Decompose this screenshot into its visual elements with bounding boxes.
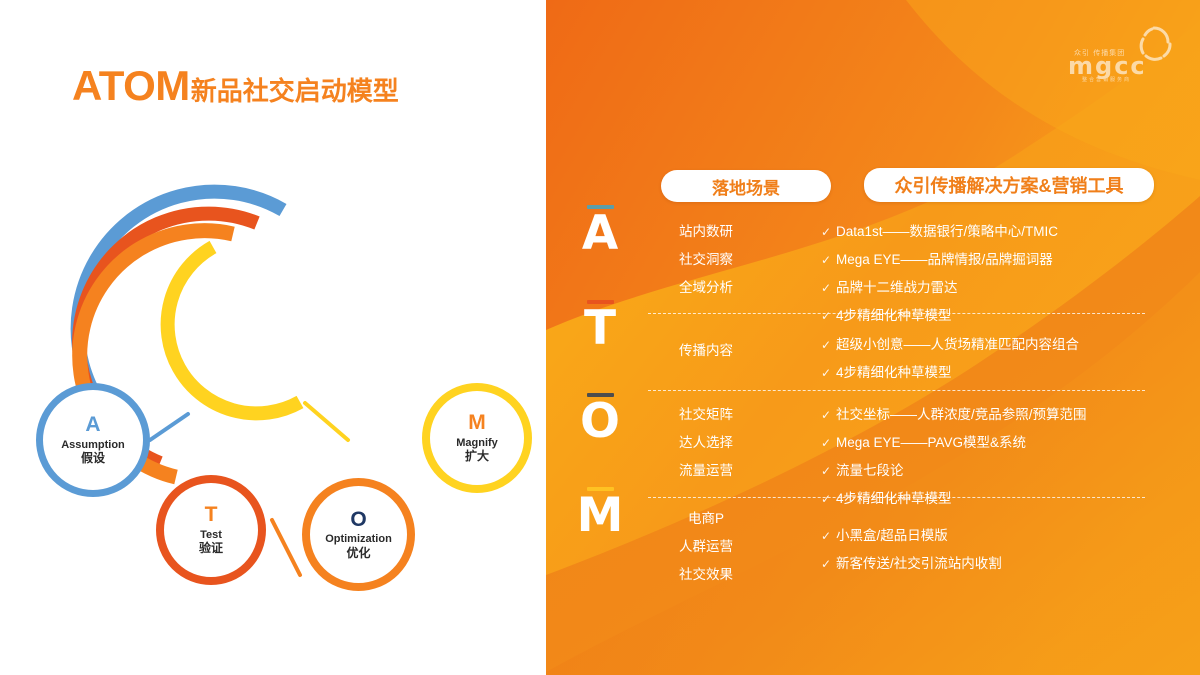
logo-wordmark: mgcc [1068,52,1147,80]
tool-label: 社交坐标——人群浓度/竞品参照/预算范围 [836,407,1087,422]
tool-label: 小黑盒/超品日模版 [836,528,948,543]
tool-item: ✓Mega EYE——PAVG模型&系统 [821,429,1200,457]
section-a-scenes: 站内数研 社交洞察 全域分析 [646,218,766,302]
section-t-tools: ✓超级小创意——人货场精准匹配内容组合 ✓4步精细化种草模型 [821,331,1200,387]
node-label-cn: 扩大 [465,449,489,463]
node-assumption[interactable]: A Assumption 假设 [36,383,150,497]
node-optimization[interactable]: O Optimization 优化 [302,478,415,591]
slide-root: ATOM新品社交启动模型 A Assumption 假设 [0,0,1200,675]
atom-letter-o: O [574,393,626,445]
node-letter: A [85,414,100,436]
tool-item: ✓社交坐标——人群浓度/竞品参照/预算范围 [821,401,1200,429]
tool-label: 4步精细化种草模型 [836,491,952,506]
node-label-en: Assumption [61,439,125,452]
page-title: ATOM新品社交启动模型 [72,62,399,110]
section-o-scenes: 社交矩阵 达人选择 流量运营 [646,401,766,485]
section-divider-1 [648,313,1145,314]
right-panel: 众引 传播集团 mgcc 整合营销服务商 落地场景 众引传播解决方案&营销工具 … [546,0,1200,675]
arc-yellow [168,247,300,413]
check-icon: ✓ [821,246,836,274]
tool-item: ✓4步精细化种草模型 [821,485,1200,513]
scene-item: 流量运营 [646,457,766,485]
node-letter: M [468,412,486,434]
check-icon: ✓ [821,429,836,457]
tool-item: ✓新客传送/社交引流站内收割 [821,550,1200,578]
check-icon: ✓ [821,218,836,246]
section-m-scenes: 电商P 人群运营 社交效果 [646,505,766,589]
check-icon: ✓ [821,485,836,513]
tool-item: ✓小黑盒/超品日模版 [821,522,1200,550]
tool-label: 品牌十二维战力雷达 [836,280,958,295]
section-t-scenes: 传播内容 [646,337,766,365]
scene-item: 站内数研 [646,218,766,246]
check-icon: ✓ [821,522,836,550]
section-divider-3 [648,497,1145,498]
check-icon: ✓ [821,457,836,485]
check-icon: ✓ [821,401,836,429]
tool-item: ✓品牌十二维战力雷达 [821,274,1200,302]
tool-label: Mega EYE——PAVG模型&系统 [836,435,1026,450]
tool-label: 新客传送/社交引流站内收割 [836,556,1002,571]
header-scenes: 落地场景 [661,170,831,202]
tool-label: Data1st——数据银行/策略中心/TMIC [836,224,1058,239]
atom-letter-glyph: A [574,212,626,257]
tool-item: ✓流量七段论 [821,457,1200,485]
check-icon: ✓ [821,302,836,330]
node-label-en: Test [200,529,222,542]
left-panel: ATOM新品社交启动模型 A Assumption 假设 [0,0,546,675]
section-m-tools: ✓小黑盒/超品日模版 ✓新客传送/社交引流站内收割 [821,522,1200,578]
atom-letter-glyph: M [574,494,626,539]
tool-item: ✓Data1st——数据银行/策略中心/TMIC [821,218,1200,246]
tool-item: ✓Mega EYE——品牌情报/品牌掘词器 [821,246,1200,274]
node-label-en: Magnify [456,437,498,450]
node-letter: T [205,504,218,526]
scene-item: 达人选择 [646,429,766,457]
node-magnify[interactable]: M Magnify 扩大 [422,383,532,493]
check-icon: ✓ [821,331,836,359]
scene-item: 人群运营 [646,533,766,561]
scene-item: 社交矩阵 [646,401,766,429]
title-chinese: 新品社交启动模型 [191,76,399,106]
tool-label: 4步精细化种草模型 [836,308,952,323]
node-test[interactable]: T Test 验证 [156,475,266,585]
node-label-cn: 优化 [346,546,370,560]
scene-item: 传播内容 [646,337,766,365]
mgcc-logo: 众引 传播集团 mgcc 整合营销服务商 [1060,22,1180,84]
tool-item: ✓4步精细化种草模型 [821,302,1200,330]
atom-letter-t: T [574,300,626,352]
scene-item: 社交洞察 [646,246,766,274]
atom-letter-glyph: T [574,307,626,352]
tool-label: 流量七段论 [836,463,904,478]
section-divider-2 [648,390,1145,391]
tool-label: Mega EYE——品牌情报/品牌掘词器 [836,252,1053,267]
check-icon: ✓ [821,550,836,578]
atom-letter-a: A [574,205,626,257]
check-icon: ✓ [821,274,836,302]
scene-item: 社交效果 [646,561,766,589]
node-label-cn: 验证 [199,541,223,555]
scene-item: 全域分析 [646,274,766,302]
tool-label: 4步精细化种草模型 [836,365,952,380]
atom-letter-glyph: O [574,400,626,445]
node-label-cn: 假设 [81,451,105,465]
atom-letter-m: M [574,487,626,539]
tool-label: 超级小创意——人货场精准匹配内容组合 [836,337,1079,352]
scene-item: 电商P [646,505,766,533]
title-english: ATOM [72,62,190,109]
tool-item: ✓4步精细化种草模型 [821,359,1200,387]
check-icon: ✓ [821,359,836,387]
node-label-en: Optimization [325,533,392,546]
logo-tagline-bottom: 整合营销服务商 [1082,76,1131,83]
header-tools: 众引传播解决方案&营销工具 [864,168,1154,202]
tool-item: ✓超级小创意——人货场精准匹配内容组合 [821,331,1200,359]
node-letter: O [350,509,366,531]
